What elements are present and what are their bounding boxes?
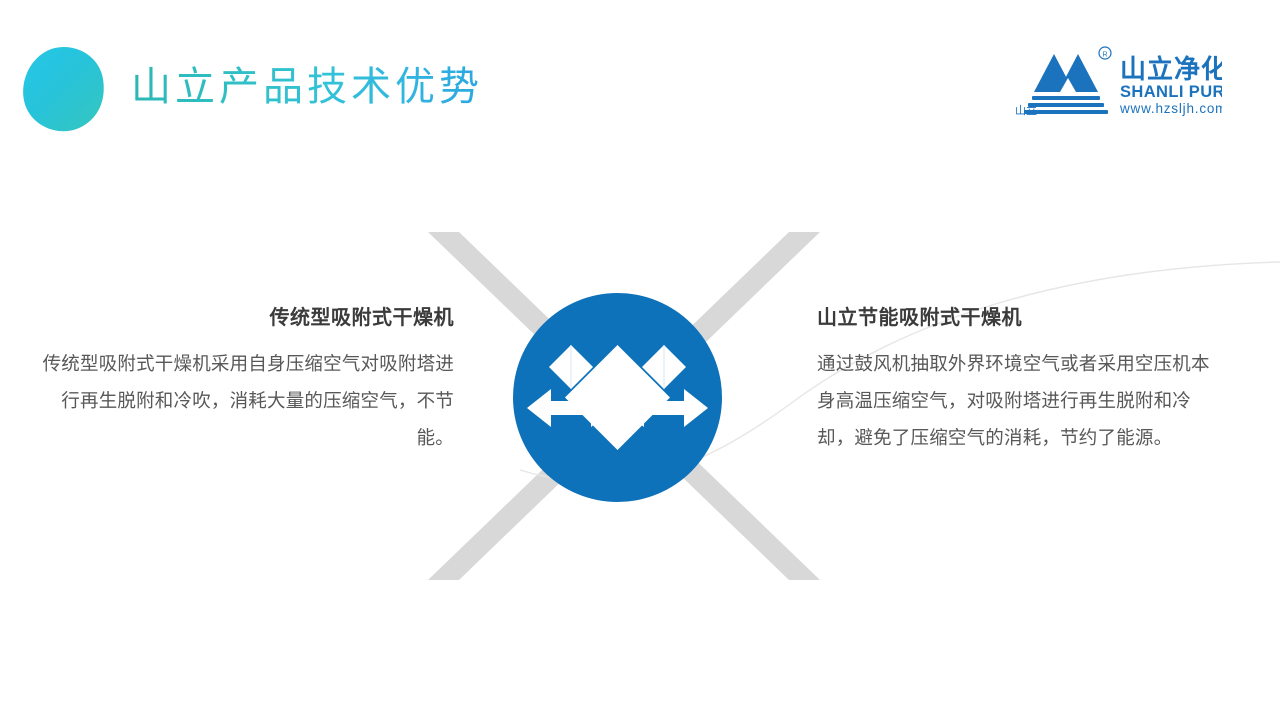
header-decor-blob — [20, 46, 108, 132]
logo-company-cn: 山立净化 — [1120, 54, 1222, 84]
logo-company-en: SHANLI PURIFY — [1120, 83, 1222, 101]
registered-symbol-text: R — [1102, 52, 1107, 59]
column-traditional-heading: 传统型吸附式干燥机 — [42, 303, 454, 333]
logo-website: www.hzsljh.com — [1119, 101, 1222, 116]
column-traditional-body: 传统型吸附式干燥机采用自身压缩空气对吸附塔进行再生脱附和冷吹，消耗大量的压缩空气… — [42, 345, 454, 456]
column-shanli-heading: 山立节能吸附式干燥机 — [817, 303, 1217, 333]
page-title: 山立产品技术优势 — [131, 61, 483, 113]
company-logo: R 山立 山立净化 SHANLI PURIFY www.hzsljh.com — [1002, 40, 1222, 118]
column-shanli: 山立节能吸附式干燥机 通过鼓风机抽取外界环境空气或者采用空压机本身高温压缩空气，… — [817, 303, 1217, 456]
slide-root: 山立产品技术优势 R 山立 山立净化 SHANLI PURIFY — [0, 0, 1280, 720]
column-shanli-body: 通过鼓风机抽取外界环境空气或者采用空压机本身高温压缩空气，对吸附塔进行再生脱附和… — [817, 345, 1217, 456]
center-icon-badge — [513, 293, 722, 502]
column-traditional: 传统型吸附式干燥机 传统型吸附式干燥机采用自身压缩空气对吸附塔进行再生脱附和冷吹… — [42, 303, 454, 456]
logo-mark-caption: 山立 — [1015, 103, 1037, 117]
